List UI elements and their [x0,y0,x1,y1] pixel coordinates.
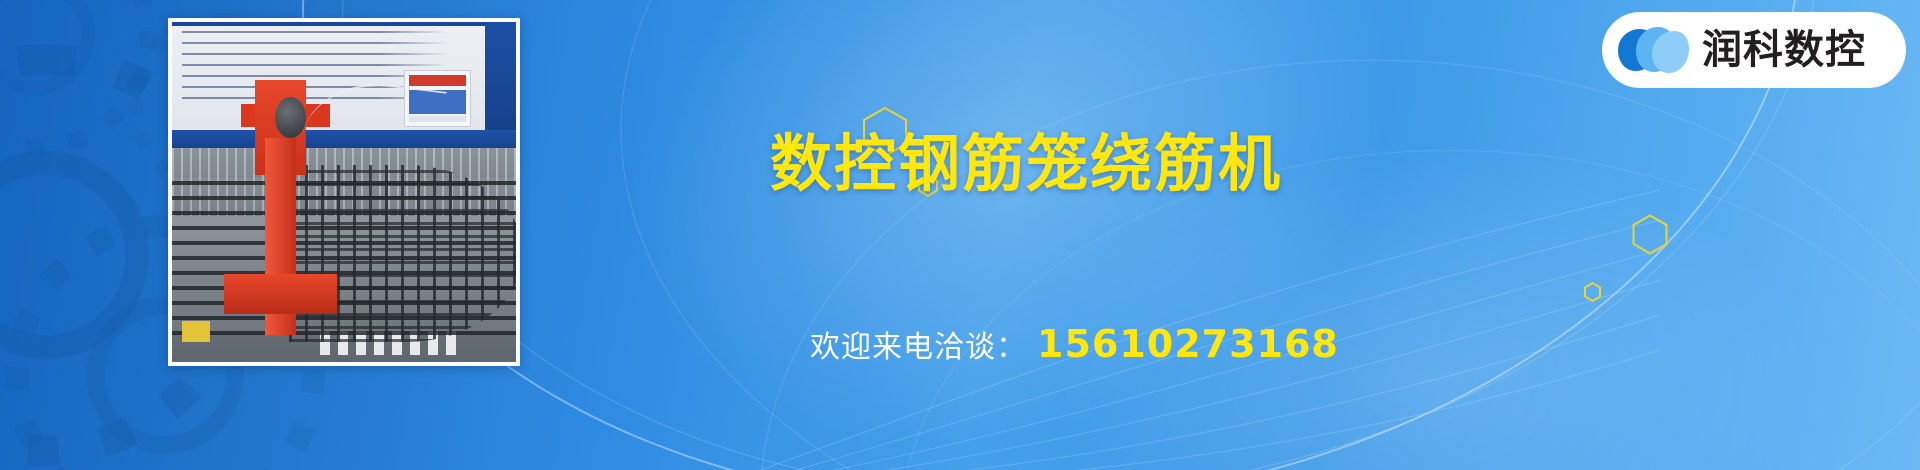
brand-logo-text: 润科数控 [1702,30,1866,70]
hexagon-medium-icon [1632,214,1668,255]
product-photo-image [172,22,516,362]
promo-banner: 数控钢筋笼绕筋机 欢迎来电洽谈： 15610273168 润科数控 [0,0,1920,470]
light-glow [483,0,1537,470]
light-arc-curve [745,38,1920,470]
three-petal-cloud-icon [1616,23,1690,77]
contact-phone-number[interactable]: 15610273168 [1037,322,1339,366]
gear-silhouette [0,0,130,130]
contact-line: 欢迎来电洽谈： 15610273168 [810,322,1339,366]
page-title: 数控钢筋笼绕筋机 [770,133,1330,195]
brand-logo[interactable]: 润科数控 [1602,12,1906,88]
product-photo [168,18,520,366]
contact-label: 欢迎来电洽谈： [810,322,1027,366]
hexagon-tiny-icon [1584,282,1601,302]
